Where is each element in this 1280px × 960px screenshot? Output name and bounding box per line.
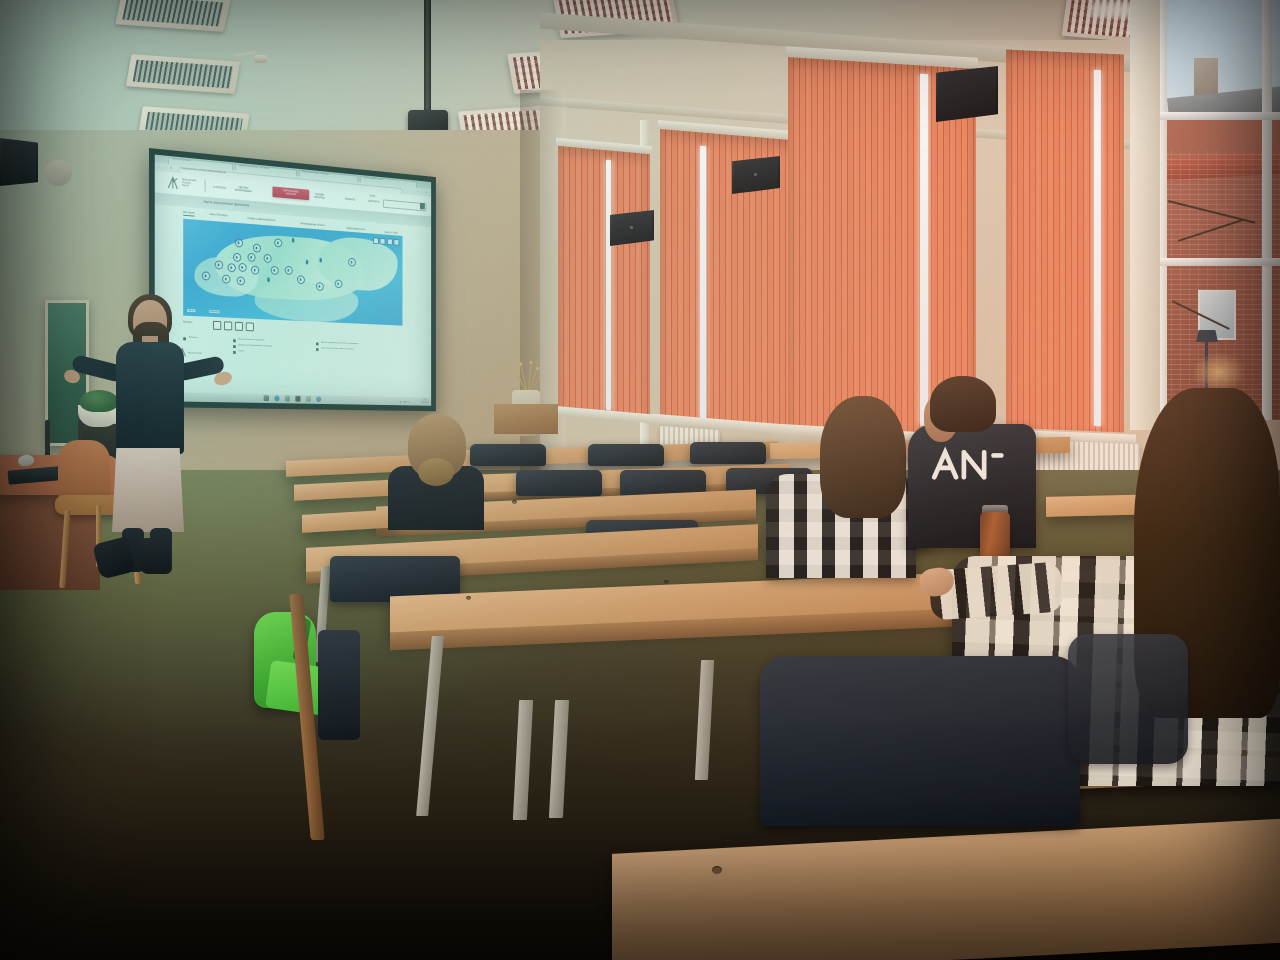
forward-icon[interactable]: › bbox=[164, 166, 165, 170]
wooden-chair-back[interactable] bbox=[58, 440, 110, 500]
region-tab-all[interactable]: Все карты bbox=[183, 211, 194, 217]
filter-swatch[interactable] bbox=[235, 322, 243, 331]
map-marker[interactable] bbox=[222, 274, 230, 283]
window-blind[interactable] bbox=[660, 129, 802, 431]
window-frame bbox=[1158, 258, 1280, 266]
filter-swatch[interactable] bbox=[224, 321, 232, 330]
pin-icon bbox=[394, 239, 400, 246]
ledge-cabinet bbox=[494, 404, 558, 434]
filters-label: Фильтры: bbox=[183, 322, 192, 324]
layers-icon bbox=[373, 237, 379, 244]
filter-swatch[interactable] bbox=[213, 321, 221, 330]
legend-bullet bbox=[233, 351, 235, 354]
map-pin[interactable] bbox=[319, 258, 322, 263]
student-hoodie-body bbox=[908, 424, 1036, 548]
reload-icon[interactable]: ⟳ bbox=[170, 166, 172, 170]
legend-item: Областные детские клубы на районах bbox=[321, 347, 354, 350]
site-logo-text: Виртуальный Русский Музей bbox=[182, 178, 196, 189]
presenter-boot bbox=[140, 538, 170, 574]
wall-speaker bbox=[732, 156, 780, 194]
start-icon[interactable] bbox=[264, 396, 269, 402]
map-marker[interactable] bbox=[348, 258, 356, 267]
blind-light-gap bbox=[1094, 70, 1101, 426]
legend-item: музеи bbox=[239, 350, 244, 352]
system-tray[interactable]: ^ 🔊 ⌨ RU bbox=[398, 401, 410, 404]
hoodie-graphic-icon bbox=[928, 446, 1006, 482]
taskbar-clock[interactable]: 11:42 12.04.2024 bbox=[421, 400, 429, 405]
logo-divider bbox=[205, 179, 206, 192]
map-marker[interactable] bbox=[251, 266, 259, 275]
wall-speaker bbox=[936, 66, 998, 122]
sun-glare bbox=[1192, 352, 1246, 392]
back-icon[interactable]: ‹ bbox=[159, 165, 160, 169]
zoom-in-icon bbox=[387, 238, 393, 245]
museum-logo-icon bbox=[166, 176, 179, 190]
blind-light-gap bbox=[700, 146, 706, 419]
map-marker[interactable] bbox=[264, 254, 272, 263]
filter-swatch[interactable] bbox=[246, 322, 254, 331]
potted-plant bbox=[80, 390, 118, 412]
search-icon[interactable] bbox=[420, 203, 425, 210]
region-tab-siberia[interactable]: Сибирь и Дальний Восток bbox=[248, 217, 276, 222]
map-marker[interactable] bbox=[228, 263, 236, 272]
window-frame bbox=[1158, 112, 1280, 120]
legend-item: Центры для образования и культуры bbox=[239, 344, 272, 347]
map-marker[interactable] bbox=[202, 271, 210, 280]
language-switcher[interactable]: Ru En bbox=[370, 194, 375, 197]
map-marker[interactable] bbox=[285, 266, 293, 275]
map-marker[interactable] bbox=[215, 260, 223, 269]
camera-icon[interactable] bbox=[295, 396, 300, 402]
smoke-detector-icon bbox=[254, 55, 267, 63]
chair[interactable] bbox=[588, 444, 664, 466]
footer-logo-text: Русский музей bbox=[188, 352, 202, 354]
chair[interactable] bbox=[1068, 634, 1188, 764]
legend-bullet bbox=[233, 339, 235, 342]
nav-item-online-resources[interactable]: ОНЛАЙН РЕСУРСЫ bbox=[314, 193, 325, 200]
legend-bullet bbox=[183, 337, 185, 340]
cable-grommet bbox=[664, 580, 669, 584]
folder-icon[interactable] bbox=[285, 396, 290, 402]
region-tab-spb[interactable]: Санкт-Петербург bbox=[209, 213, 228, 217]
chair[interactable] bbox=[470, 444, 546, 466]
map-marker[interactable] bbox=[233, 253, 241, 262]
legend-item: Школы и дошкольные учебные учреждения bbox=[321, 342, 358, 345]
wall-speaker bbox=[610, 210, 654, 246]
map-marker[interactable] bbox=[274, 238, 282, 247]
blind-light-gap bbox=[920, 74, 928, 427]
student-hair-bun bbox=[418, 458, 454, 486]
region-tab-leningrad[interactable]: Ленинградская область bbox=[301, 222, 325, 227]
chair[interactable] bbox=[760, 656, 1080, 826]
map-marker[interactable] bbox=[239, 263, 247, 272]
os-taskbar bbox=[155, 392, 431, 406]
map-scale-label: 500 км bbox=[187, 309, 195, 312]
cloud-icon[interactable] bbox=[306, 396, 311, 402]
legend-bullet bbox=[316, 342, 318, 345]
region-tab-european[interactable]: Европейская часть bbox=[347, 227, 366, 231]
chair[interactable] bbox=[690, 442, 766, 464]
map-pin[interactable] bbox=[292, 238, 295, 243]
map-marker[interactable] bbox=[297, 275, 305, 284]
map-marker[interactable] bbox=[335, 279, 343, 288]
legend-bullet bbox=[316, 348, 318, 351]
map-marker[interactable] bbox=[271, 266, 279, 275]
window-frame bbox=[1262, 0, 1272, 420]
map-pin[interactable] bbox=[267, 277, 270, 282]
blind-light-gap bbox=[606, 160, 611, 410]
presenter-sweater bbox=[116, 342, 184, 454]
open-window-view bbox=[1158, 0, 1280, 420]
legend-item: Высшие учебные заведения bbox=[239, 338, 265, 341]
legend-item: Филиалы bbox=[189, 337, 198, 339]
map-marker[interactable] bbox=[235, 238, 243, 247]
map-pin[interactable] bbox=[306, 260, 309, 265]
legend-bullet bbox=[233, 345, 235, 348]
map-marker[interactable] bbox=[237, 276, 245, 285]
map-marker[interactable] bbox=[248, 253, 256, 262]
chair-back[interactable] bbox=[318, 630, 360, 740]
filter-icon bbox=[380, 238, 386, 245]
cable-grommet bbox=[512, 500, 517, 504]
student-hair bbox=[930, 376, 996, 432]
classroom-photo: Виртуальный музей Виртуальный филиал - В… bbox=[0, 0, 1280, 960]
chair[interactable] bbox=[516, 470, 602, 496]
map-zoom-label: Масштаб bbox=[209, 310, 219, 313]
website-body: Виртуальный Русский Музей О ПРОЕКТЕ ЦЕНТ… bbox=[155, 171, 431, 392]
window-blind[interactable] bbox=[558, 146, 650, 422]
cable-grommet bbox=[712, 866, 722, 874]
map-marker[interactable] bbox=[253, 243, 261, 252]
window-blind[interactable] bbox=[1006, 50, 1124, 433]
wall-horn-speaker bbox=[44, 160, 72, 186]
projector-mount-pole bbox=[424, 0, 431, 115]
map-marker[interactable] bbox=[316, 282, 324, 291]
window-reveal bbox=[1130, 0, 1160, 430]
wall-speaker bbox=[0, 138, 38, 186]
cable-grommet bbox=[466, 596, 471, 600]
presenter-skirt bbox=[112, 448, 184, 532]
interactive-map[interactable]: 500 км Масштаб bbox=[183, 219, 402, 326]
student-hair bbox=[820, 396, 906, 518]
